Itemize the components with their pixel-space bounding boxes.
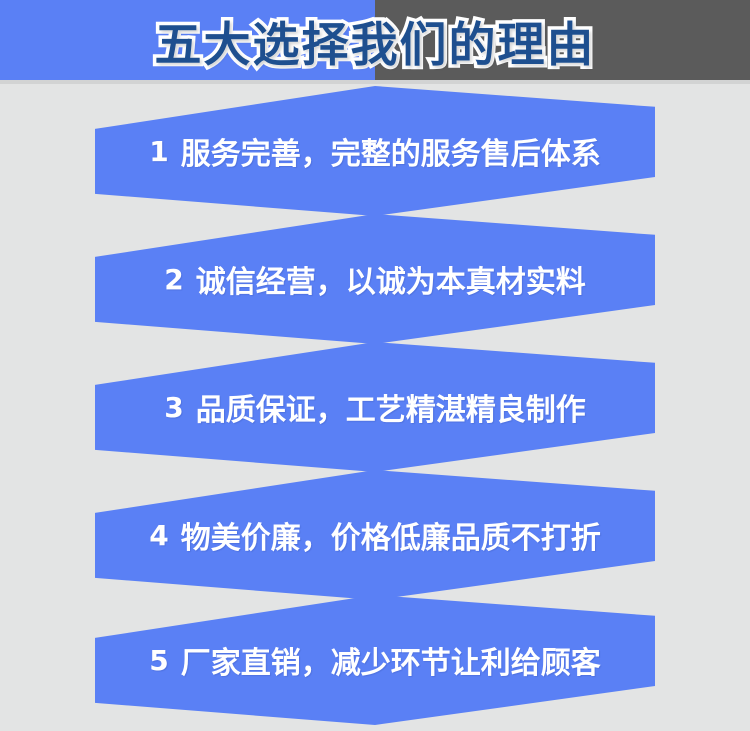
page-header: 五大选择我们的理由 — [0, 0, 750, 80]
list-item[interactable]: 2 诚信经营，以诚为本真材实料 — [95, 214, 655, 344]
list-item-content: 1 服务完善，完整的服务售后体系 — [95, 86, 655, 216]
reasons-list: 1 服务完善，完整的服务售后体系 2 诚信经营，以诚为本真材实料 3 品质保证，… — [0, 84, 750, 731]
list-item-content: 3 品质保证，工艺精湛精良制作 — [95, 342, 655, 472]
list-item-number: 4 — [149, 519, 168, 552]
list-item[interactable]: 4 物美价廉，价格低廉品质不打折 — [95, 470, 655, 600]
list-item-content: 2 诚信经营，以诚为本真材实料 — [95, 214, 655, 344]
list-item-content: 5 厂家直销，减少环节让利给顾客 — [95, 595, 655, 725]
page-title: 五大选择我们的理由 — [0, 0, 750, 80]
list-item-number: 5 — [149, 644, 168, 677]
list-item-label: 厂家直销，减少环节让利给顾客 — [181, 638, 601, 682]
list-item-number: 1 — [149, 135, 168, 168]
list-item-label: 品质保证，工艺精湛精良制作 — [196, 385, 586, 429]
list-item[interactable]: 1 服务完善，完整的服务售后体系 — [95, 86, 655, 216]
list-item[interactable]: 3 品质保证，工艺精湛精良制作 — [95, 342, 655, 472]
list-item-number: 2 — [164, 263, 183, 296]
list-item-label: 诚信经营，以诚为本真材实料 — [196, 257, 586, 301]
list-item-label: 物美价廉，价格低廉品质不打折 — [181, 513, 601, 557]
list-item-content: 4 物美价廉，价格低廉品质不打折 — [95, 470, 655, 600]
promo-page: 五大选择我们的理由 1 服务完善，完整的服务售后体系 2 诚信经营，以诚为本真材… — [0, 0, 750, 731]
list-item-number: 3 — [164, 391, 183, 424]
list-item-label: 服务完善，完整的服务售后体系 — [181, 129, 601, 173]
list-item[interactable]: 5 厂家直销，减少环节让利给顾客 — [95, 595, 655, 725]
